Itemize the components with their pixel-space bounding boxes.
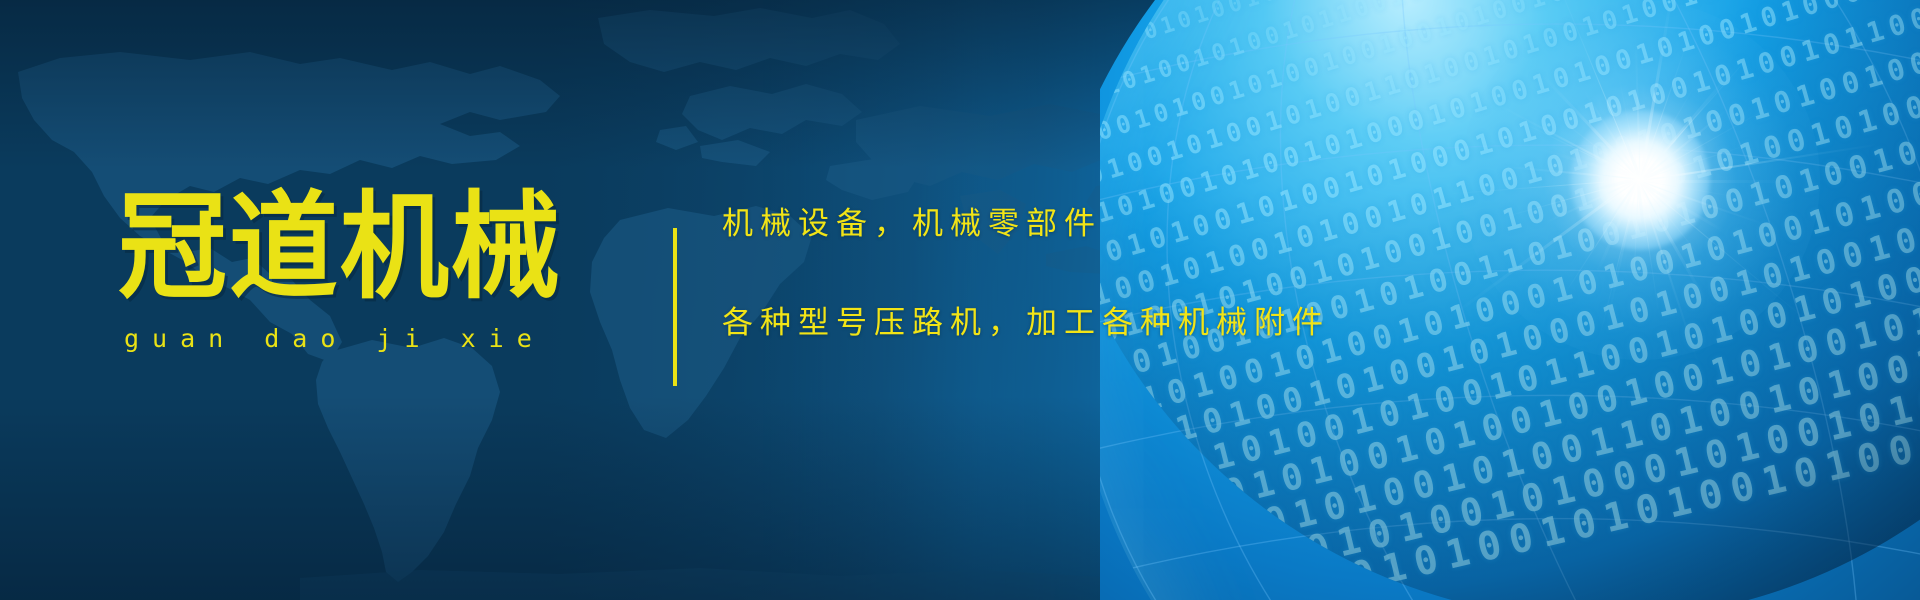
company-name-pinyin: guan dao ji xie <box>124 324 638 353</box>
company-name-chinese: 冠道机械 <box>118 190 607 306</box>
banner-content: 冠道机械 guan dao ji xie 机械设备，机械零部件 各种型号压路机，… <box>0 0 1920 600</box>
tagline-primary: 机械设备，机械零部件 <box>722 198 1330 243</box>
vertical-divider <box>673 228 677 386</box>
tagline-group: 机械设备，机械零部件 各种型号压路机，加工各种机械附件 <box>722 198 1330 342</box>
company-logo[interactable]: 冠道机械 guan dao ji xie <box>118 190 638 353</box>
promo-banner: 1001010010100101001001001010010100101001… <box>0 0 1920 600</box>
tagline-secondary: 各种型号压路机，加工各种机械附件 <box>722 297 1330 342</box>
